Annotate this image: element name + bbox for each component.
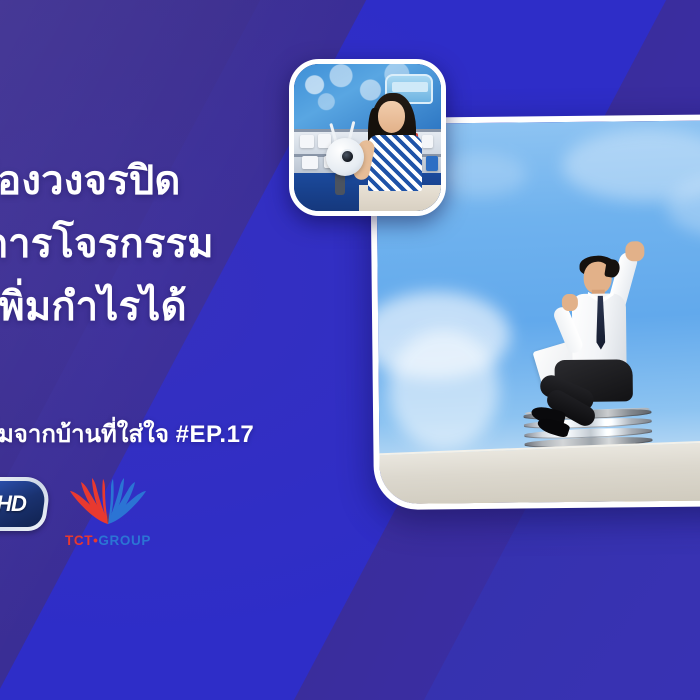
tct-wing-icon bbox=[56, 474, 160, 526]
camera-mount bbox=[335, 173, 345, 195]
woman-dress bbox=[368, 135, 422, 191]
headline-line-1: ล กล้องวงจรปิด bbox=[0, 150, 332, 213]
raised-fist bbox=[625, 241, 644, 261]
hd-badge-logo: HD bbox=[0, 477, 48, 531]
front-fist bbox=[562, 294, 578, 311]
hd-logo-text: HD bbox=[0, 477, 48, 531]
tct-logo-text: TCT•GROUP bbox=[56, 533, 160, 548]
promo-banner: ล กล้องวงจรปิด งกันการโจรกรรม และเพิ่มกำ… bbox=[0, 0, 700, 700]
shoe bbox=[536, 416, 571, 439]
tct-word-2: GROUP bbox=[98, 533, 151, 548]
product-box bbox=[426, 156, 438, 171]
headline: ล กล้องวงจรปิด งกันการโจรกรรม และเพิ่มกำ… bbox=[0, 150, 332, 402]
businessman-figure bbox=[529, 231, 681, 445]
tct-group-logo: TCT•GROUP bbox=[56, 474, 160, 550]
product-box bbox=[300, 135, 314, 148]
cctv-camera-lens bbox=[340, 149, 355, 164]
cloud-shape bbox=[388, 329, 499, 450]
headline-line-2: งกันการโจรกรรม bbox=[0, 213, 332, 276]
headline-line-3: และเพิ่มกำไรได้ bbox=[0, 276, 332, 339]
episode-badge: #EP.17 bbox=[176, 421, 255, 448]
tct-word-1: TCT bbox=[65, 533, 93, 548]
subtitle: ภัยเริ่มจากบ้านที่ใส่ใจ #EP.17 bbox=[0, 418, 367, 452]
subtitle-text: ภัยเริ่มจากบ้านที่ใส่ใจ bbox=[0, 421, 169, 448]
product-box bbox=[422, 135, 433, 148]
woman-face bbox=[378, 101, 405, 133]
headline-line-4: ร? bbox=[0, 339, 332, 402]
